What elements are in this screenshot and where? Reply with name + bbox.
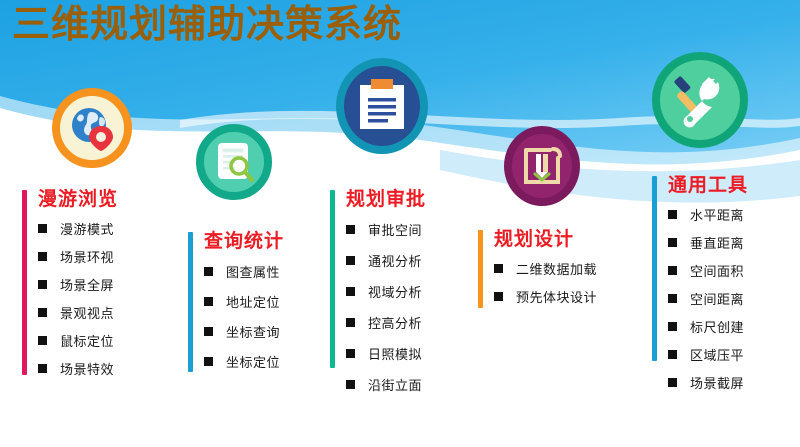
bullet-square-icon — [346, 349, 355, 358]
list-item[interactable]: 景观视点 — [38, 298, 114, 326]
list-item[interactable]: 审批空间 — [346, 214, 422, 245]
bullet-square-icon — [346, 256, 355, 265]
bullet-square-icon — [38, 364, 47, 373]
column-heading: 规划审批 — [346, 184, 426, 211]
list-item[interactable]: 地址定位 — [204, 286, 280, 316]
column-accent-bar — [22, 190, 27, 375]
column-item-list: 漫游模式 场景环视 场景全屏 景观视点 鼠标定位 场景特效 — [38, 214, 114, 382]
list-item[interactable]: 区域压平 — [668, 340, 744, 368]
bullet-square-icon — [38, 280, 47, 289]
bullet-square-icon — [38, 224, 47, 233]
bullet-square-icon — [346, 318, 355, 327]
clipboard-icon[interactable] — [336, 58, 428, 154]
tools-wrench-screwdriver-icon[interactable] — [652, 52, 748, 148]
bullet-square-icon — [38, 252, 47, 261]
column-heading: 查询统计 — [204, 226, 284, 253]
list-item[interactable]: 水平距离 — [668, 200, 744, 228]
column-item-list: 图查属性 地址定位 坐标查询 坐标定位 — [204, 256, 280, 376]
list-item[interactable]: 预先体块设计 — [494, 282, 597, 310]
bullet-square-icon — [346, 287, 355, 296]
list-item[interactable]: 日照模拟 — [346, 338, 422, 369]
bullet-square-icon — [204, 267, 213, 276]
document-search-icon-glyph — [214, 141, 254, 183]
bullet-square-icon — [668, 266, 677, 275]
clipboard-icon-glyph — [357, 79, 407, 133]
list-item[interactable]: 图查属性 — [204, 256, 280, 286]
bullet-square-icon — [668, 238, 677, 247]
column-item-list: 水平距离 垂直距离 空间面积 空间距离 标尺创建 区域压平 场景截屏 — [668, 200, 744, 396]
list-item[interactable]: 控高分析 — [346, 307, 422, 338]
column-accent-bar — [652, 176, 657, 361]
bullet-square-icon — [38, 308, 47, 317]
list-item[interactable]: 场景全屏 — [38, 270, 114, 298]
bullet-square-icon — [668, 294, 677, 303]
list-item[interactable]: 空间距离 — [668, 284, 744, 312]
list-item[interactable]: 二维数据加载 — [494, 254, 597, 282]
design-pencil-icon-glyph — [520, 144, 564, 188]
globe-location-icon-glyph — [65, 101, 119, 155]
column-heading: 规划设计 — [494, 224, 574, 251]
design-pencil-icon[interactable] — [504, 126, 580, 206]
list-item[interactable]: 视域分析 — [346, 276, 422, 307]
bullet-square-icon — [668, 322, 677, 331]
list-item[interactable]: 垂直距离 — [668, 228, 744, 256]
list-item[interactable]: 沿街立面 — [346, 369, 422, 400]
column-accent-bar — [330, 190, 335, 368]
bullet-square-icon — [494, 264, 503, 273]
list-item[interactable]: 鼠标定位 — [38, 326, 114, 354]
list-item[interactable]: 坐标查询 — [204, 316, 280, 346]
column-accent-bar — [478, 230, 483, 308]
list-item[interactable]: 通视分析 — [346, 245, 422, 276]
bullet-square-icon — [204, 297, 213, 306]
column-heading: 通用工具 — [668, 170, 748, 197]
list-item[interactable]: 场景环视 — [38, 242, 114, 270]
bullet-square-icon — [38, 336, 47, 345]
list-item[interactable]: 标尺创建 — [668, 312, 744, 340]
column-item-list: 二维数据加载 预先体块设计 — [494, 254, 597, 310]
bullet-square-icon — [346, 380, 355, 389]
list-item[interactable]: 空间面积 — [668, 256, 744, 284]
globe-location-icon[interactable] — [52, 88, 132, 168]
bullet-square-icon — [668, 210, 677, 219]
bullet-square-icon — [346, 225, 355, 234]
infographic-canvas: 三维规划辅助决策系统 — [0, 0, 800, 447]
list-item[interactable]: 场景特效 — [38, 354, 114, 382]
bullet-square-icon — [668, 350, 677, 359]
bullet-square-icon — [204, 357, 213, 366]
bullet-square-icon — [494, 292, 503, 301]
column-item-list: 审批空间 通视分析 视域分析 控高分析 日照模拟 沿街立面 — [346, 214, 422, 400]
column-accent-bar — [188, 232, 193, 372]
bullet-square-icon — [668, 378, 677, 387]
list-item[interactable]: 漫游模式 — [38, 214, 114, 242]
list-item[interactable]: 场景截屏 — [668, 368, 744, 396]
column-heading: 漫游浏览 — [38, 184, 118, 211]
tools-icon-glyph — [671, 71, 729, 129]
page-title: 三维规划辅助决策系统 — [12, 2, 402, 46]
list-item[interactable]: 坐标定位 — [204, 346, 280, 376]
document-search-icon[interactable] — [196, 124, 272, 200]
bullet-square-icon — [204, 327, 213, 336]
